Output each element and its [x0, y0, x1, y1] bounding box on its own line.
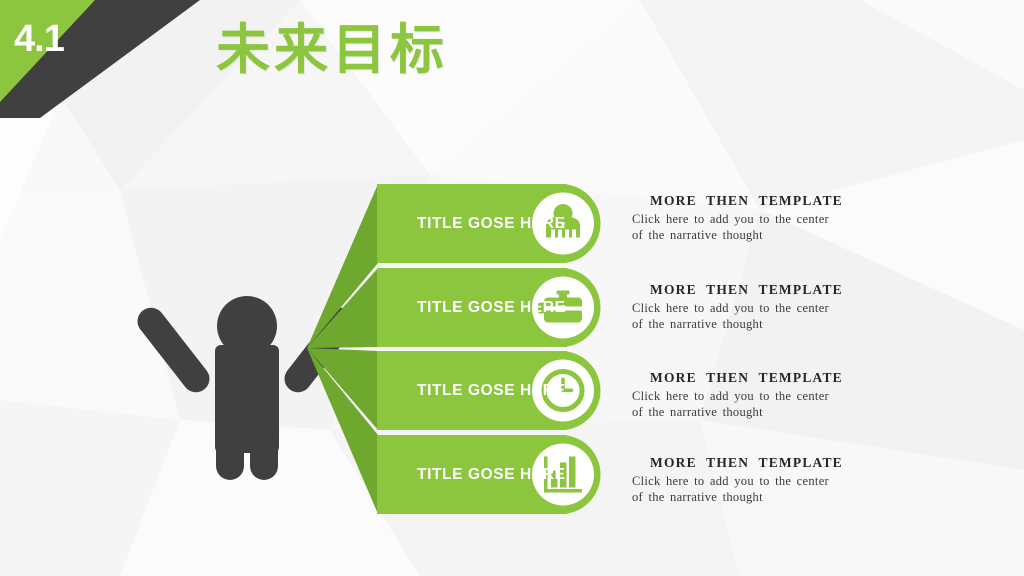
text-body-4-line2: of the narrative thought: [632, 489, 922, 505]
text-body-1-line2: of the narrative thought: [632, 227, 922, 243]
text-body-2-line2: of the narrative thought: [632, 316, 922, 332]
slide-canvas: 4.1 未来目标: [0, 0, 1024, 576]
text-body-3-line2: of the narrative thought: [632, 404, 922, 420]
text-heading-1: MORE THEN TEMPLATE: [650, 193, 922, 209]
text-body-2-line1: Click here to add you to the center: [632, 300, 922, 316]
icon-circles-group: [532, 193, 594, 506]
text-block-1: MORE THEN TEMPLATE Click here to add you…: [632, 193, 922, 243]
text-body-1-line1: Click here to add you to the center: [632, 211, 922, 227]
text-heading-4: MORE THEN TEMPLATE: [650, 455, 922, 471]
text-heading-2: MORE THEN TEMPLATE: [650, 282, 922, 298]
text-block-2: MORE THEN TEMPLATE Click here to add you…: [632, 282, 922, 332]
chevron-converge-group: [307, 184, 378, 514]
text-heading-3: MORE THEN TEMPLATE: [650, 370, 922, 386]
text-body-4-line1: Click here to add you to the center: [632, 473, 922, 489]
text-block-4: MORE THEN TEMPLATE Click here to add you…: [632, 455, 922, 505]
text-block-3: MORE THEN TEMPLATE Click here to add you…: [632, 370, 922, 420]
text-body-3-line1: Click here to add you to the center: [632, 388, 922, 404]
